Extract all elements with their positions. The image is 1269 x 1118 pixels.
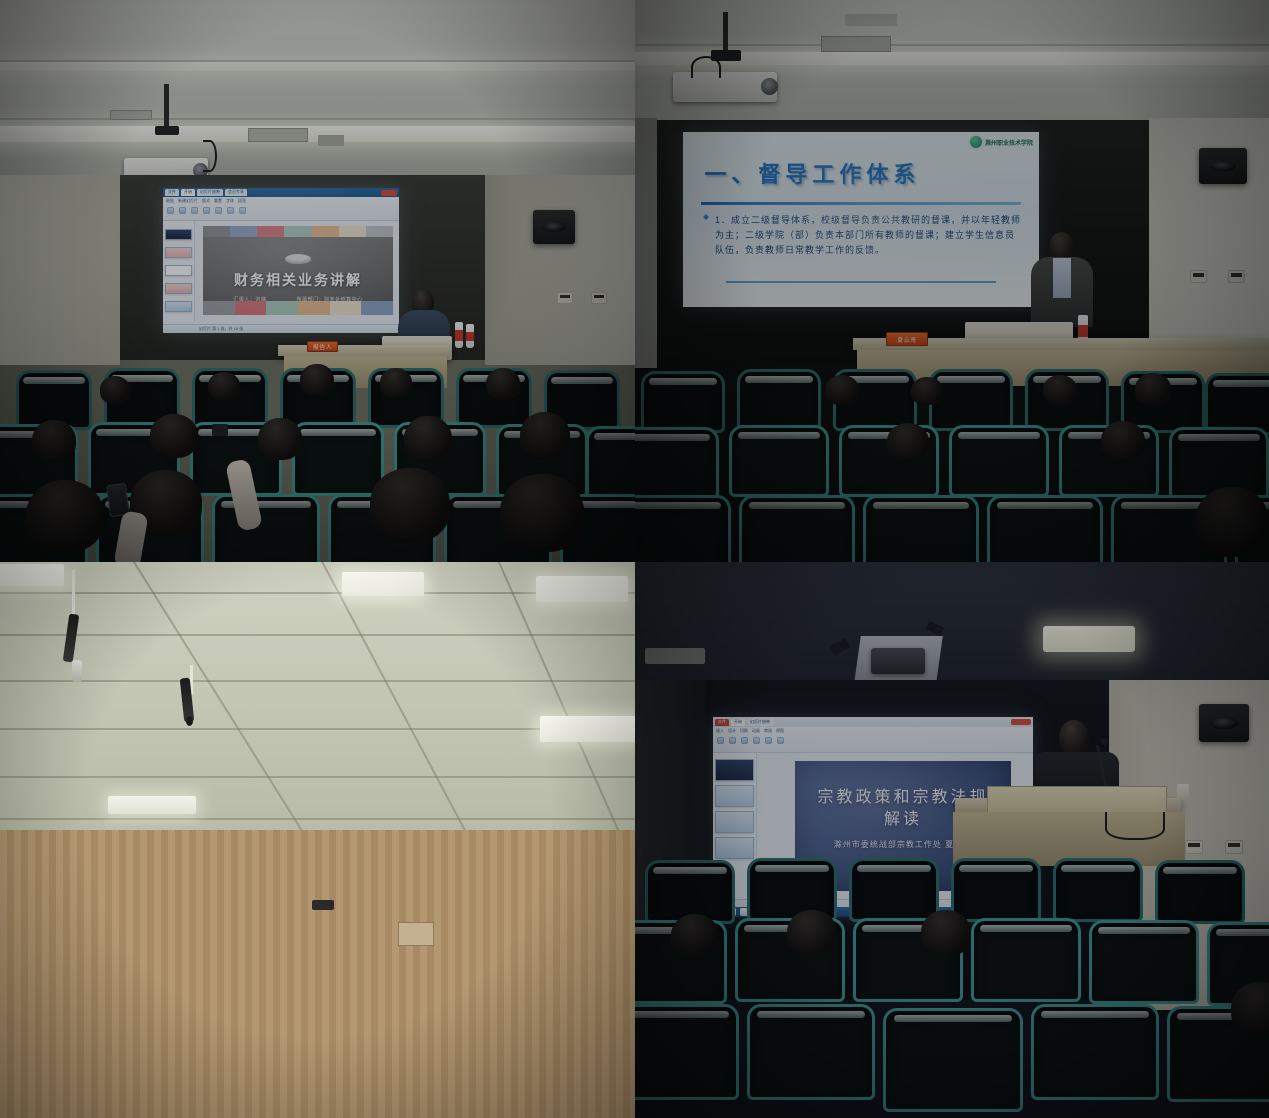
slide-color-bar-top	[203, 226, 393, 237]
paste-icon[interactable]	[167, 207, 174, 214]
school-logo: 滁州职业技术学院	[970, 136, 1033, 148]
paper-cup	[1177, 784, 1189, 800]
app-tab[interactable]: 文件	[715, 719, 729, 726]
new-slide-icon[interactable]	[179, 207, 186, 214]
ribbon-tab-label: 动画	[752, 728, 760, 734]
seat	[971, 918, 1081, 1002]
ceiling	[0, 0, 635, 175]
ribbon-tab-strip: 粘贴 新建幻灯片 版式 重置 字体 段落	[163, 197, 399, 205]
table-microphone-head	[1101, 738, 1108, 745]
shapes-icon[interactable]	[227, 207, 234, 214]
panel-top-right: 滁州职业技术学院 一、督导工作体系 1．成立二级督导体系，校级督导负责公共教研的…	[635, 0, 1269, 562]
ribbon-tab-label: 审阅	[764, 728, 772, 734]
powerpoint-slide-supervision: 滁州职业技术学院 一、督导工作体系 1．成立二级督导体系，校级督导负责公共教研的…	[683, 132, 1039, 307]
app-tab-label: 开始	[734, 719, 742, 725]
close-icon[interactable]	[381, 190, 397, 196]
projector	[871, 648, 925, 674]
app-tab-label: 幻灯片放映	[750, 719, 770, 725]
suspended-ceiling	[0, 562, 635, 832]
ribbon-tab-label: 插入	[716, 728, 724, 734]
close-icon[interactable]	[1011, 719, 1031, 725]
audience-head	[486, 368, 520, 400]
projector-bracket	[155, 126, 179, 135]
ribbon-tab-label: 段落	[238, 198, 246, 204]
seat	[1205, 373, 1269, 435]
speaker-head	[1059, 720, 1089, 754]
seat	[987, 495, 1103, 562]
slide-underline	[726, 281, 997, 283]
ceiling-vent	[845, 14, 897, 26]
projector-lens	[761, 78, 778, 95]
audience-head	[1231, 982, 1269, 1036]
seat	[212, 494, 320, 562]
side-wall-left	[635, 118, 657, 368]
seat	[747, 1004, 875, 1100]
slide-body-text: 1．成立二级督导体系，校级督导负责公共教研的督课，并以年轻教师为主；二级学院（部…	[715, 213, 1021, 259]
ceiling-light-panel	[108, 796, 196, 814]
seat	[949, 425, 1049, 497]
audience-head	[300, 364, 334, 396]
seat	[641, 371, 725, 433]
app-tab-label: 幻灯片放映	[200, 189, 220, 195]
app-tab[interactable]: 会员专享	[225, 189, 247, 195]
microphone-capsule	[186, 716, 193, 726]
status-text: 幻灯片 第 1 张，共 18 张	[163, 325, 399, 333]
audience-head	[32, 420, 76, 462]
projection-screen: 文件 开始 幻灯片放映 会员专享 粘贴 新建幻灯片 版式 重置 字体 段落	[163, 188, 399, 333]
audience-head	[150, 414, 198, 458]
handshake-icon	[285, 254, 311, 264]
seat	[635, 427, 719, 499]
audience-head	[887, 423, 929, 461]
audience-head	[911, 377, 943, 405]
seat	[883, 1008, 1023, 1112]
app-tab[interactable]: 幻灯片放映	[747, 719, 773, 726]
projector-cable	[203, 140, 217, 172]
ceiling-light-strip	[0, 62, 635, 71]
wall-outlet	[1190, 270, 1207, 283]
seat	[1031, 1004, 1159, 1100]
slide-divider	[701, 202, 1021, 205]
audience-head	[404, 416, 452, 462]
shapes-icon[interactable]	[753, 737, 760, 744]
text-box-icon[interactable]	[741, 737, 748, 744]
app-titlebar: 文件 开始 幻灯片放映	[713, 717, 1033, 727]
slide-thumbnail[interactable]	[165, 283, 192, 294]
desk-nameplate: 报告人	[307, 341, 338, 352]
slide-canvas: 财务相关业务讲解 汇报人：刘璐 所属部门：财务处结算中心	[203, 226, 393, 315]
audience-head	[1135, 373, 1171, 405]
picture-icon[interactable]	[765, 737, 772, 744]
audience-head	[380, 368, 412, 398]
app-status-bar: 幻灯片 第 1 张，共 18 张	[163, 324, 399, 333]
audience-head	[208, 372, 240, 400]
ceiling-vent	[821, 36, 891, 52]
wall-camera	[312, 900, 334, 910]
seat	[635, 495, 731, 562]
ceiling-seam	[0, 118, 635, 120]
ceiling-light-panel	[536, 576, 628, 602]
app-tab[interactable]: 开始	[181, 189, 195, 195]
ribbon-tab-strip: 插入 设计 切换 动画 审阅 视图	[713, 727, 1033, 735]
globe-icon	[970, 136, 982, 148]
ceiling-vent	[248, 128, 308, 142]
seat	[635, 1004, 739, 1100]
wall-speaker	[1199, 704, 1249, 742]
water-bottle	[455, 322, 463, 348]
audience-head	[921, 910, 971, 956]
seat	[739, 495, 855, 562]
paste-icon[interactable]	[717, 737, 724, 744]
ribbon-tab-label: 粘贴	[166, 198, 174, 204]
rear-wall	[0, 830, 635, 1118]
audience-seating	[635, 367, 1269, 562]
app-tab[interactable]: 幻灯片放映	[197, 189, 223, 195]
seat	[849, 858, 939, 922]
ribbon-icon-row	[713, 735, 1033, 746]
slide-thumbnail[interactable]	[715, 759, 754, 781]
ceiling-seam	[635, 44, 1269, 46]
seat	[929, 369, 1013, 431]
seat	[951, 858, 1041, 922]
ceiling-light-panel	[0, 564, 64, 586]
seat	[1089, 920, 1199, 1004]
water-bottle	[466, 324, 474, 348]
app-ribbon: 插入 设计 切换 动画 审阅 视图	[713, 727, 1033, 753]
wall-outlet	[591, 292, 607, 304]
slide-thumbnail[interactable]	[715, 837, 754, 859]
projector-cable	[691, 56, 721, 78]
side-wall-right	[485, 175, 635, 365]
slide-thumbnail[interactable]	[165, 265, 192, 276]
seat	[292, 422, 384, 496]
wall-outlet	[1228, 270, 1245, 283]
nameplate-text: 夏云青	[897, 335, 917, 343]
head-table	[278, 345, 450, 356]
audience-head-front	[1195, 487, 1269, 557]
ceiling-tile-line	[0, 634, 635, 636]
slide-thumbnail[interactable]	[715, 811, 754, 833]
panel-bottom-right: 文件 开始 幻灯片放映 插入 设计 切换 动画 审阅 视图	[635, 562, 1269, 1118]
projection-screen: 滁州职业技术学院 一、督导工作体系 1．成立二级督导体系，校级督导负责公共教研的…	[683, 132, 1039, 307]
ceiling	[635, 562, 1269, 680]
wall-outlet	[557, 292, 573, 304]
audience-head	[787, 910, 837, 956]
layout-icon[interactable]	[191, 207, 198, 214]
ribbon-tab-label: 字体	[226, 198, 234, 204]
powerpoint-slide-finance: 文件 开始 幻灯片放映 会员专享 粘贴 新建幻灯片 版式 重置 字体 段落	[163, 188, 399, 333]
seat	[1053, 858, 1143, 922]
panel-top-left: 文件 开始 幻灯片放映 会员专享 粘贴 新建幻灯片 版式 重置 字体 段落	[0, 0, 635, 562]
seat	[1155, 860, 1245, 924]
slide-title: 一、督导工作体系	[704, 157, 920, 189]
app-tab-label: 会员专享	[228, 189, 244, 195]
app-tab[interactable]: 文件	[165, 189, 179, 195]
app-tab-label: 文件	[168, 189, 176, 195]
app-tab-label: 文件	[718, 719, 726, 725]
table-icon[interactable]	[777, 737, 784, 744]
nameplate-text: 报告人	[313, 342, 333, 350]
wall-outlet	[1185, 840, 1203, 854]
ceiling-light-panel	[540, 716, 635, 742]
ceiling-tile-line	[0, 680, 635, 682]
desk-nameplate: 夏云青	[886, 332, 928, 346]
ribbon-icon-row	[163, 205, 399, 216]
new-slide-icon[interactable]	[729, 737, 736, 744]
audience-head	[100, 376, 130, 404]
seat	[863, 495, 979, 562]
app-tab[interactable]: 开始	[731, 719, 745, 726]
seat	[586, 426, 635, 500]
photo-collage-grid: 文件 开始 幻灯片放映 会员专享 粘贴 新建幻灯片 版式 重置 字体 段落	[0, 0, 1269, 1118]
ceiling-tile-line	[0, 818, 635, 820]
audience-head	[520, 412, 570, 460]
slide-color-bar-bottom	[203, 301, 393, 315]
ribbon-tab-label: 切换	[740, 728, 748, 734]
audience-head	[1101, 421, 1145, 461]
wall-outlet	[1225, 840, 1243, 854]
app-ribbon: 粘贴 新建幻灯片 版式 重置 字体 段落	[163, 197, 399, 221]
font-icon[interactable]	[203, 207, 210, 214]
paragraph-icon[interactable]	[215, 207, 222, 214]
projector-mount-pole	[164, 84, 169, 132]
ceiling-light-panel	[342, 572, 424, 596]
presenter-shirt	[1053, 258, 1071, 298]
ribbon-tab-label: 新建幻灯片	[178, 198, 198, 204]
slide-thumbnail[interactable]	[165, 247, 192, 258]
audience-head-front	[26, 480, 104, 552]
ceiling-recessed-light	[1043, 626, 1135, 652]
audience-head	[258, 418, 302, 460]
app-titlebar: 文件 开始 幻灯片放映 会员专享	[163, 188, 399, 197]
audience-seating	[635, 858, 1269, 1118]
audience-head	[671, 914, 719, 958]
ribbon-tab-label: 设计	[728, 728, 736, 734]
ceiling-vent	[318, 135, 344, 146]
ceiling-vent	[110, 110, 152, 120]
bullet-icon	[704, 214, 710, 220]
ribbon-tab-label: 视图	[776, 728, 784, 734]
slide-thumbnail[interactable]	[715, 785, 754, 807]
slide-thumbnail-panel[interactable]	[163, 221, 195, 321]
ceiling-recessed-light	[645, 648, 705, 664]
wall-access-panel	[398, 922, 434, 946]
audience-head	[1043, 375, 1077, 405]
seat	[737, 369, 821, 431]
panel-bottom-left: 滁州职业技术学院数字资源库 CHUZHOU VOCATIONAL AND TEC…	[0, 562, 635, 1118]
projector-mount-pole	[723, 12, 728, 54]
microphone-capsule	[72, 660, 82, 682]
app-tab-label: 开始	[184, 189, 192, 195]
wall-speaker	[1199, 148, 1247, 184]
smartphone	[212, 424, 228, 436]
slide-title: 财务相关业务讲解	[203, 270, 393, 290]
slide-thumbnail[interactable]	[165, 301, 192, 312]
audience-head-front	[500, 474, 584, 552]
side-wall-left	[0, 175, 120, 365]
ribbon-tab-label: 重置	[214, 198, 222, 204]
slide-thumbnail[interactable]	[165, 229, 192, 240]
audience-head-front	[370, 468, 450, 542]
ceiling-tile-line	[0, 776, 635, 778]
wall-speaker	[533, 210, 575, 244]
edit-icon[interactable]	[239, 207, 246, 214]
logo-text: 滁州职业技术学院	[985, 138, 1033, 147]
table-cable	[1105, 812, 1165, 840]
seat	[729, 425, 829, 497]
audience-head	[825, 375, 859, 405]
audience-seating	[0, 362, 635, 562]
hanging-microphone-cable	[72, 570, 75, 620]
ribbon-tab-label: 版式	[202, 198, 210, 204]
